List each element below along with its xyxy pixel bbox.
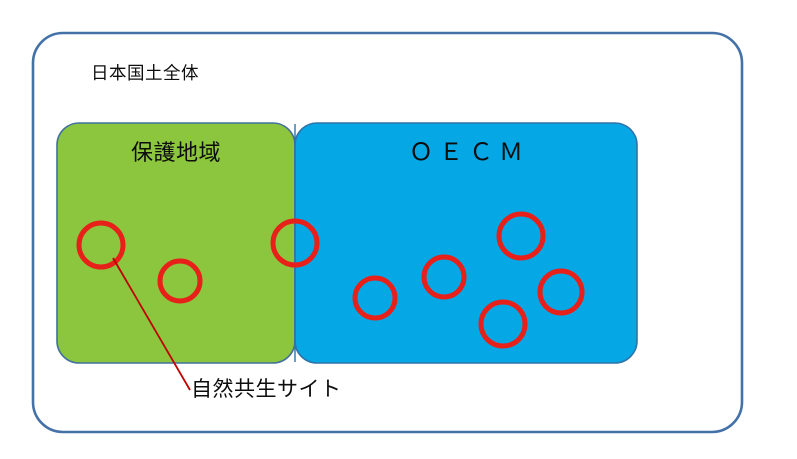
region-oecm-label: ＯＥＣＭ [295, 140, 637, 164]
diagram-canvas: 日本国土全体 保護地域 ＯＥＣＭ 自然共生サイト [0, 0, 797, 459]
outer-boundary-label: 日本国土全体 [91, 65, 199, 83]
callout-label-site: 自然共生サイト [191, 379, 342, 400]
region-protected-area-label: 保護地域 [57, 143, 295, 165]
